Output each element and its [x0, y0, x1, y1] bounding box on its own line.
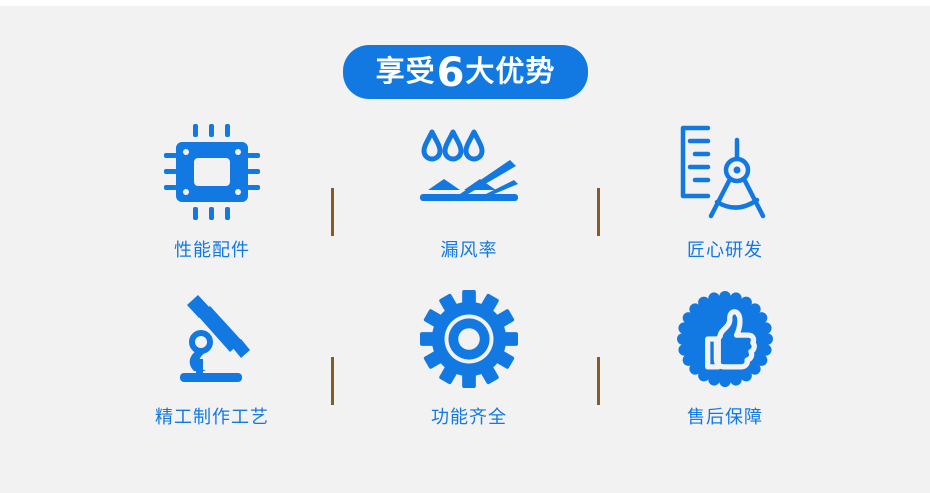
feature-item-after-sales: 售后保障: [625, 283, 825, 429]
feature-item-rnd: 匠心研发: [625, 116, 825, 262]
ruler-compass-icon: [625, 116, 825, 228]
water-repellent-fabric-icon: [369, 116, 569, 228]
divider-row1-left: [331, 188, 334, 236]
promo-banner: 享受6大优势: [0, 0, 930, 493]
divider-row2-left: [331, 357, 334, 405]
top-white-strip: [0, 0, 930, 6]
divider-row2-right: [597, 357, 600, 405]
feature-item-craftsmanship: 精工制作工艺: [112, 283, 312, 429]
feature-label: 漏风率: [369, 236, 569, 262]
gear-icon: [369, 283, 569, 395]
feature-item-cpu: 性能配件: [112, 116, 312, 262]
microscope-icon: [112, 283, 312, 395]
feature-label: 匠心研发: [625, 236, 825, 262]
feature-label: 功能齐全: [369, 403, 569, 429]
feature-item-full-function: 功能齐全: [369, 283, 569, 429]
feature-item-air-leakage: 漏风率: [369, 116, 569, 262]
header-badge: 享受6大优势: [343, 45, 588, 99]
feature-label: 精工制作工艺: [112, 403, 312, 429]
feature-label: 售后保障: [625, 403, 825, 429]
divider-row1-right: [597, 188, 600, 236]
feature-label: 性能配件: [112, 236, 312, 262]
cpu-chip-icon: [112, 116, 312, 228]
thumbs-up-badge-icon: [625, 283, 825, 395]
badge-suffix-text: 大优势: [465, 57, 555, 86]
badge-number-text: 6: [436, 53, 466, 93]
badge-prefix-text: 享受: [376, 57, 436, 86]
